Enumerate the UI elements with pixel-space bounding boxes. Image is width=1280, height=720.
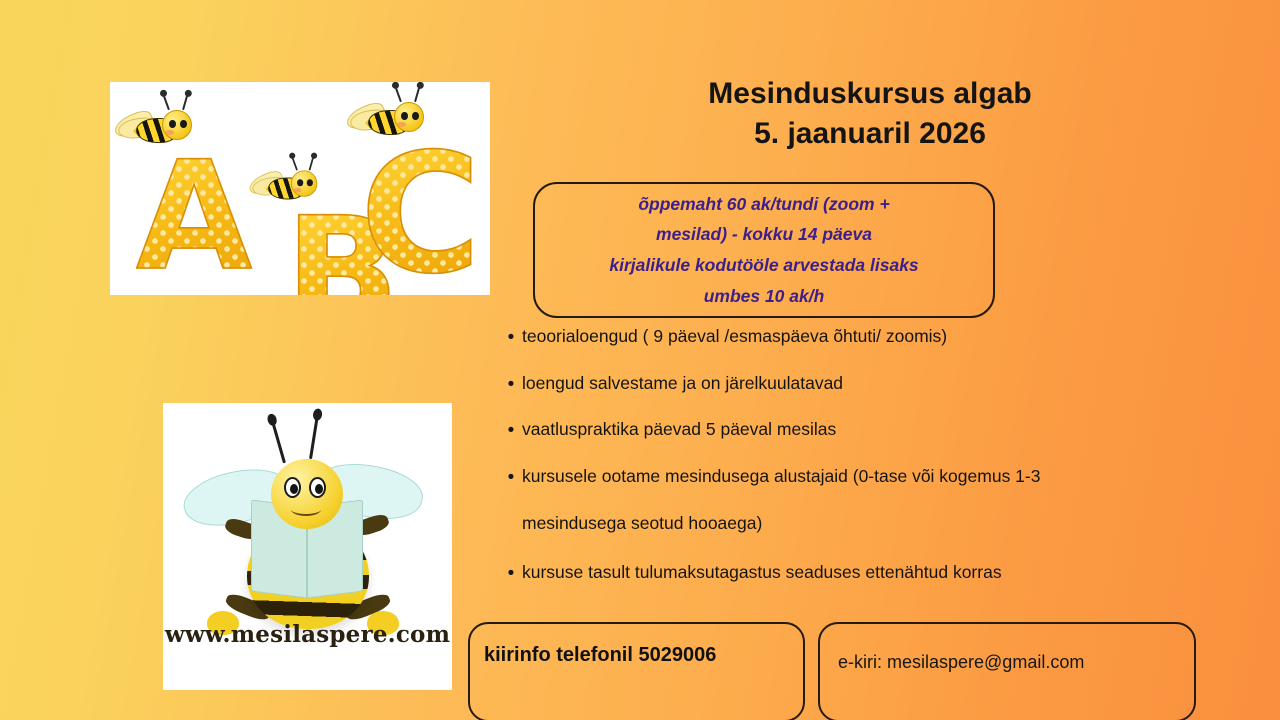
list-item-text: vaatluspraktika päevad 5 päeval mesilas (522, 417, 836, 442)
abc-letter-c: C (360, 132, 481, 295)
bee-cheek (397, 122, 406, 127)
email-contact-text: e-kiri: mesilaspere@gmail.com (838, 652, 1084, 672)
bullet-marker-icon: • (500, 560, 522, 588)
phone-contact-box[interactable]: kiirinfo telefonil 5029006 (468, 622, 805, 720)
list-item: • loengud salvestame ja on järelkuulatav… (500, 371, 1200, 399)
course-volume-note-box: õppemaht 60 ak/tundi (zoom + mesilad) - … (533, 182, 995, 318)
bee-cheek (294, 188, 302, 192)
logo-bee-eye (309, 477, 326, 498)
email-contact-box[interactable]: e-kiri: mesilaspere@gmail.com (818, 622, 1196, 720)
abc-bee-image: A B C (110, 82, 490, 295)
logo-bee-eye (284, 477, 301, 498)
bee-antenna (182, 94, 188, 110)
phone-contact-text: kiirinfo telefonil 5029006 (484, 644, 716, 666)
bullet-marker-icon: • (500, 324, 522, 352)
bee-icon-a (116, 104, 190, 156)
bee-antenna (309, 157, 314, 171)
note-line-3: kirjalikule kodutööle arvestada lisaks (609, 250, 918, 281)
page-title: Mesinduskursus algab 5. jaanuaril 2026 (530, 74, 1210, 153)
bee-eye (401, 112, 408, 120)
mesilaspere-logo-image: www.mesilaspere.com (163, 403, 452, 690)
course-details-list: • teoorialoengud ( 9 päeval /esmaspäeva … (500, 324, 1200, 607)
list-item: • vaatluspraktika päevad 5 päeval mesila… (500, 417, 1200, 445)
bullet-marker-icon: • (500, 417, 522, 445)
title-line-1: Mesinduskursus algab (530, 74, 1210, 114)
logo-website-url: www.mesilaspere.com (163, 621, 452, 648)
bee-antenna (395, 87, 402, 103)
logo-bee-head (271, 459, 343, 529)
bee-eye (297, 179, 303, 186)
bee-eye (412, 112, 419, 120)
bee-eye (307, 179, 313, 186)
list-item-text: teoorialoengud ( 9 päeval /esmaspäeva õh… (522, 324, 947, 349)
abc-letter-a: A (136, 142, 252, 292)
note-line-2: mesilad) - kokku 14 päeva (656, 219, 872, 250)
list-item: • teoorialoengud ( 9 päeval /esmaspäeva … (500, 324, 1200, 352)
bee-antenna (291, 157, 297, 171)
list-item-text: loengud salvestame ja on järelkuulatavad (522, 371, 843, 396)
title-line-2: 5. jaanuaril 2026 (530, 114, 1210, 154)
bullet-marker-icon: • (500, 464, 522, 492)
list-item-continuation: mesindusega seotud hooaega) (522, 513, 1200, 534)
bee-icon-c (348, 96, 422, 148)
bee-head (394, 102, 424, 132)
list-item: • kursuse tasult tulumaksutagastus seadu… (500, 560, 1200, 588)
logo-bee-antenna (271, 422, 285, 463)
list-item-text: kursuse tasult tulumaksutagastus seaduse… (522, 560, 1002, 585)
bee-icon-b (250, 165, 315, 211)
list-item: • kursusele ootame mesindusega alustajai… (500, 464, 1200, 492)
list-item-text: kursusele ootame mesindusega alustajaid … (522, 464, 1040, 489)
bee-eye (169, 120, 176, 128)
note-line-4: umbes 10 ak/h (704, 281, 825, 312)
bee-cheek (165, 130, 174, 135)
bee-head (291, 170, 317, 196)
bee-head (162, 110, 192, 140)
logo-bee-smile (291, 503, 321, 516)
bullet-marker-icon: • (500, 371, 522, 399)
bee-eye (180, 120, 187, 128)
note-line-1: õppemaht 60 ak/tundi (zoom + (638, 189, 889, 220)
bee-antenna (163, 95, 170, 111)
logo-bee-antenna (309, 417, 319, 459)
bee-antenna (414, 86, 420, 102)
